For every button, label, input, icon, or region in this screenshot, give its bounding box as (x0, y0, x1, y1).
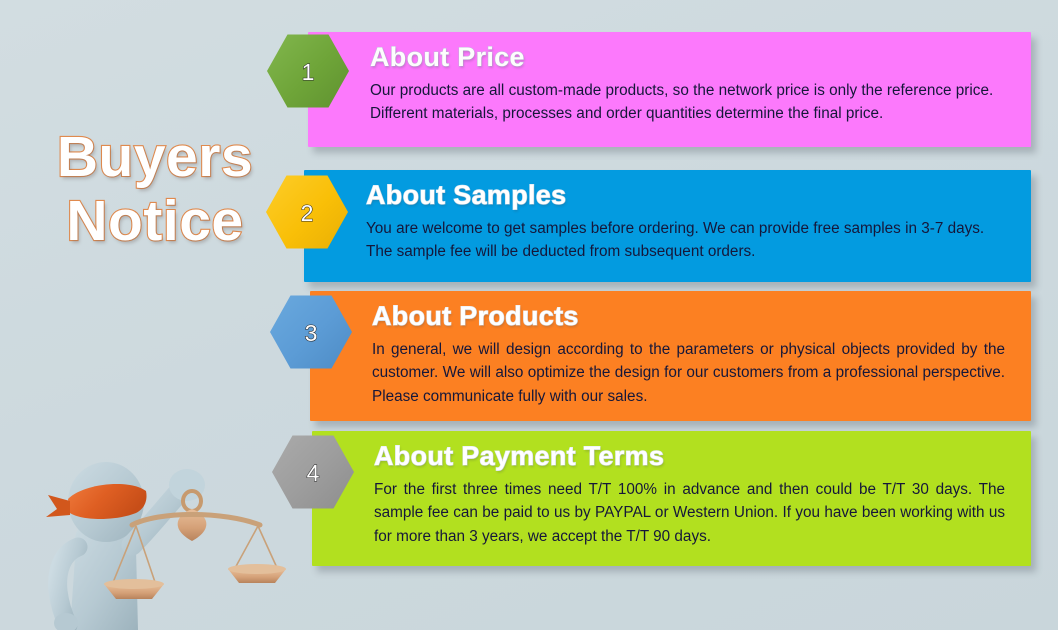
notice-panel-2-title: About Samples (366, 180, 1005, 210)
step-badge-4-number: 4 (307, 460, 320, 487)
notice-panel-4-text: For the first three times need T/T 100% … (374, 478, 1005, 548)
notice-panel-3-text: In general, we will design according to … (372, 338, 1005, 408)
page-title-line-1: Buyers (40, 126, 270, 190)
scales-right-string-b (258, 526, 278, 570)
step-badge-2-number: 2 (301, 200, 314, 227)
notice-panel-1: About Price Our products are all custom-… (308, 32, 1031, 147)
figure-blindfold-knot (46, 495, 70, 517)
notice-panel-4-title: About Payment Terms (374, 441, 1005, 471)
notice-panel-1-title: About Price (370, 42, 1005, 72)
notice-panel-3-content: About Products In general, we will desig… (310, 291, 1031, 420)
notice-panel-4: About Payment Terms For the first three … (312, 431, 1031, 566)
notice-panel-2-text: You are welcome to get samples before or… (366, 217, 1005, 264)
scales-right-pan-rim (228, 564, 286, 574)
justice-figure-svg (24, 425, 294, 630)
blindfolded-justice-figure (24, 425, 294, 630)
page-title: Buyers Notice (40, 126, 270, 254)
notice-panel-2: About Samples You are welcome to get sam… (304, 170, 1031, 282)
step-badge-1-number: 1 (302, 59, 315, 86)
notice-panel-4-content: About Payment Terms For the first three … (312, 431, 1031, 560)
notice-panel-1-text: Our products are all custom-made product… (370, 79, 1005, 126)
notice-panel-3: About Products In general, we will desig… (310, 291, 1031, 421)
page-title-line-2: Notice (40, 190, 270, 254)
notice-panel-3-title: About Products (372, 301, 1005, 331)
infographic-canvas: Buyers Notice (0, 0, 1058, 630)
step-badge-3-number: 3 (305, 320, 318, 347)
scales-left-pan-rim (104, 579, 164, 589)
notice-panel-1-content: About Price Our products are all custom-… (308, 32, 1031, 138)
notice-panel-2-content: About Samples You are welcome to get sam… (304, 170, 1031, 276)
scales-right-string-a (234, 526, 258, 570)
